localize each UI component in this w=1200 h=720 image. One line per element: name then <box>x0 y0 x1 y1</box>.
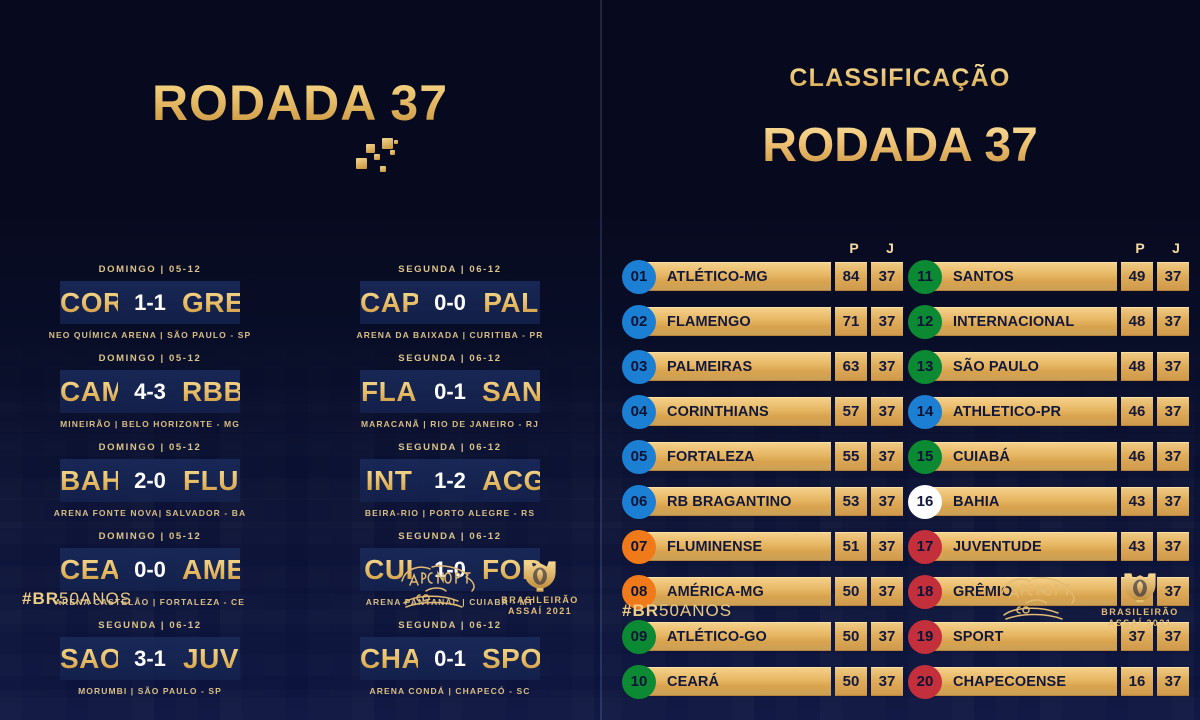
match-score-box: SAO3-1JUV <box>60 637 240 680</box>
standings-row[interactable]: 05FORTALEZA5537 <box>622 438 912 475</box>
match-score-box: COR1-1GRE <box>60 281 240 324</box>
column-header-games: J <box>1158 240 1194 256</box>
decorative-squares-icon <box>354 136 402 182</box>
team-name: INTERNACIONAL <box>929 307 1117 336</box>
standings-row[interactable]: 06RB BRAGANTINO5337 <box>622 483 912 520</box>
match-score-box: FLA0-1SAN <box>360 370 540 413</box>
logo-line-1: BRASILEIRÃO <box>1101 607 1178 618</box>
fixtures-grid: DOMINGO | 05-12COR1-1GRENEO QUÍMICA AREN… <box>0 264 600 709</box>
match-card[interactable]: SEGUNDA | 06-12CAP0-0PALARENA DA BAIXADA… <box>300 264 600 353</box>
team-points: 53 <box>835 487 867 516</box>
away-team-abbr: SPO <box>482 643 540 675</box>
hashtag-bold: #BR <box>22 589 59 608</box>
brasileirao-assai-logo: BRASILEIRÃO ASSAÍ 2021 <box>494 555 586 617</box>
match-date: SEGUNDA | 06-12 <box>398 353 501 364</box>
match-venue: ARENA DA BAIXADA | CURITIBA - PR <box>357 330 544 340</box>
team-name: CUIABÁ <box>929 442 1117 471</box>
trophy-icon <box>1114 571 1166 607</box>
position-badge: 20 <box>908 665 942 699</box>
standings-header-row: PJ <box>622 234 912 256</box>
standings-row[interactable]: 16BAHIA4337 <box>908 483 1198 520</box>
match-venue: NEO QUÍMICA ARENA | SÃO PAULO - SP <box>49 330 252 340</box>
match-result: 1-1 <box>128 290 172 316</box>
standings-row[interactable]: 13SÃO PAULO4837 <box>908 348 1198 385</box>
match-card[interactable]: DOMINGO | 05-12BAH2-0FLUARENA FONTE NOVA… <box>0 442 300 531</box>
match-date: SEGUNDA | 06-12 <box>398 264 501 275</box>
team-games: 37 <box>871 487 903 516</box>
position-badge: 06 <box>622 485 656 519</box>
position-badge: 05 <box>622 440 656 474</box>
match-result: 0-1 <box>428 379 472 405</box>
home-team-abbr: COR <box>60 287 118 319</box>
away-team-abbr: GRE <box>182 287 240 319</box>
away-team-abbr: ACG <box>482 465 540 497</box>
right-panel-standings: CLASSIFICAÇÃO RODADA 37 PJ01ATLÉTICO-MG8… <box>600 0 1200 720</box>
team-name: ATLÉTICO-MG <box>643 262 831 291</box>
standings-row[interactable]: 20CHAPECOENSE1637 <box>908 663 1198 700</box>
position-badge: 03 <box>622 350 656 384</box>
position-badge: 04 <box>622 395 656 429</box>
team-points: 63 <box>835 352 867 381</box>
standings-row[interactable]: 03PALMEIRAS6337 <box>622 348 912 385</box>
left-title-wrap: RODADA 37 <box>0 78 600 128</box>
match-result: 0-1 <box>428 646 472 672</box>
team-name: BAHIA <box>929 487 1117 516</box>
left-panel-fixtures: RODADA 37 DOMINGO | 05-12COR1-1GRENEO QU… <box>0 0 600 720</box>
match-result: 2-0 <box>128 468 172 494</box>
home-team-abbr: BAH <box>60 465 118 497</box>
logo-line-2: ASSAÍ 2021 <box>1108 618 1172 629</box>
position-badge: 13 <box>908 350 942 384</box>
team-games: 37 <box>1157 487 1189 516</box>
team-games: 37 <box>1157 352 1189 381</box>
match-result: 4-3 <box>128 379 172 405</box>
team-name: FLAMENGO <box>643 307 831 336</box>
page-title: RODADA 37 <box>152 78 448 128</box>
away-team-abbr: JUV <box>182 643 240 675</box>
column-header-points: P <box>836 240 872 256</box>
team-points: 49 <box>1121 262 1153 291</box>
match-score-box: CAP0-0PAL <box>360 281 540 324</box>
match-venue: ARENA FONTE NOVA| SALVADOR - BA <box>54 508 246 518</box>
brasileirao-assai-logo: BRASILEIRÃO ASSAÍ 2021 <box>1094 567 1186 629</box>
right-footer: #BR50ANOS <box>600 553 1200 649</box>
position-badge: 02 <box>622 305 656 339</box>
team-name: PALMEIRAS <box>643 352 831 381</box>
match-score-box: CHA0-1SPO <box>360 637 540 680</box>
standings-row[interactable]: 01ATLÉTICO-MG8437 <box>622 258 912 295</box>
home-team-abbr: CAP <box>360 287 418 319</box>
match-date: DOMINGO | 05-12 <box>99 442 202 453</box>
team-name: CEARÁ <box>643 667 831 696</box>
standings-row[interactable]: 04CORINTHIANS5737 <box>622 393 912 430</box>
match-result: 1-2 <box>428 468 472 494</box>
team-games: 37 <box>871 307 903 336</box>
match-score-box: CAM4-3RBB <box>60 370 240 413</box>
team-games: 37 <box>871 352 903 381</box>
team-points: 55 <box>835 442 867 471</box>
home-team-abbr: CHA <box>360 643 418 675</box>
match-date: SEGUNDA | 06-12 <box>398 442 501 453</box>
away-team-abbr: SAN <box>482 376 540 408</box>
home-team-abbr: FLA <box>360 376 418 408</box>
hashtag-bold: #BR <box>622 601 659 620</box>
match-card[interactable]: SEGUNDA | 06-12INT1-2ACGBEIRA-RIO | PORT… <box>300 442 600 531</box>
away-team-abbr: FLU <box>182 465 240 497</box>
trophy-icon <box>514 559 566 595</box>
team-name: FORTALEZA <box>643 442 831 471</box>
brasileirao-round-summary: RODADA 37 DOMINGO | 05-12COR1-1GRENEO QU… <box>0 0 1200 720</box>
match-venue: MARACANÃ | RIO DE JANEIRO - RJ <box>361 419 539 429</box>
position-badge: 11 <box>908 260 942 294</box>
away-team-abbr: PAL <box>482 287 540 319</box>
team-points: 84 <box>835 262 867 291</box>
team-points: 46 <box>1121 442 1153 471</box>
team-games: 37 <box>871 442 903 471</box>
standings-row[interactable]: 12INTERNACIONAL4837 <box>908 303 1198 340</box>
position-badge: 12 <box>908 305 942 339</box>
away-team-abbr: RBB <box>182 376 240 408</box>
team-games: 37 <box>871 262 903 291</box>
team-games: 37 <box>1157 397 1189 426</box>
team-games: 37 <box>871 397 903 426</box>
logo-line-2: ASSAÍ 2021 <box>508 606 572 617</box>
match-venue: MORUMBI | SÃO PAULO - SP <box>78 686 222 696</box>
team-name: ATHLETICO-PR <box>929 397 1117 426</box>
team-points: 43 <box>1121 487 1153 516</box>
team-name: RB BRAGANTINO <box>643 487 831 516</box>
match-date: DOMINGO | 05-12 <box>99 264 202 275</box>
match-result: 3-1 <box>128 646 172 672</box>
team-points: 16 <box>1121 667 1153 696</box>
team-points: 71 <box>835 307 867 336</box>
position-badge: 15 <box>908 440 942 474</box>
team-name: SANTOS <box>929 262 1117 291</box>
hashtag-br50anos: #BR50ANOS <box>622 601 732 621</box>
position-badge: 16 <box>908 485 942 519</box>
standings-row[interactable]: 10CEARÁ5037 <box>622 663 912 700</box>
position-badge: 01 <box>622 260 656 294</box>
standings-row[interactable]: 15CUIABÁ4637 <box>908 438 1198 475</box>
match-score-box: BAH2-0FLU <box>60 459 240 502</box>
column-header-points: P <box>1122 240 1158 256</box>
campeonato-brasileiro-logo <box>396 561 482 613</box>
panel-divider <box>600 0 602 720</box>
team-games: 37 <box>1157 442 1189 471</box>
standings-subtitle: CLASSIFICAÇÃO <box>600 64 1200 93</box>
match-venue: BEIRA-RIO | PORTO ALEGRE - RS <box>365 508 535 518</box>
left-footer: #BR50ANOS <box>0 541 600 637</box>
home-team-abbr: INT <box>360 465 418 497</box>
match-result: 0-0 <box>428 290 472 316</box>
standings-header-row: PJ <box>908 234 1198 256</box>
team-name: CHAPECOENSE <box>929 667 1117 696</box>
home-team-abbr: SAO <box>60 643 118 675</box>
team-points: 48 <box>1121 307 1153 336</box>
team-games: 37 <box>1157 667 1189 696</box>
standings-row[interactable]: 02FLAMENGO7137 <box>622 303 912 340</box>
standings-row[interactable]: 11SANTOS4937 <box>908 258 1198 295</box>
team-name: CORINTHIANS <box>643 397 831 426</box>
match-card[interactable]: DOMINGO | 05-12COR1-1GRENEO QUÍMICA AREN… <box>0 264 300 353</box>
logo-line-1: BRASILEIRÃO <box>501 595 578 606</box>
home-team-abbr: CAM <box>60 376 118 408</box>
position-badge: 14 <box>908 395 942 429</box>
hashtag-br50anos: #BR50ANOS <box>22 589 132 609</box>
match-score-box: INT1-2ACG <box>360 459 540 502</box>
hashtag-rest: 50ANOS <box>59 589 132 608</box>
standings-row[interactable]: 14ATHLETICO-PR4637 <box>908 393 1198 430</box>
match-venue: MINEIRÃO | BELO HORIZONTE - MG <box>60 419 240 429</box>
standings-title: RODADA 37 <box>600 121 1200 171</box>
hashtag-rest: 50ANOS <box>659 601 732 620</box>
column-header-games: J <box>872 240 908 256</box>
match-card[interactable]: DOMINGO | 05-12CAM4-3RBBMINEIRÃO | BELO … <box>0 353 300 442</box>
team-games: 37 <box>1157 307 1189 336</box>
campeonato-brasileiro-logo <box>996 573 1082 625</box>
team-games: 37 <box>871 667 903 696</box>
match-date: DOMINGO | 05-12 <box>99 353 202 364</box>
match-card[interactable]: SEGUNDA | 06-12FLA0-1SANMARACANÃ | RIO D… <box>300 353 600 442</box>
team-name: SÃO PAULO <box>929 352 1117 381</box>
position-badge: 10 <box>622 665 656 699</box>
team-points: 50 <box>835 667 867 696</box>
match-venue: ARENA CONDÁ | CHAPECÓ - SC <box>369 686 530 696</box>
team-games: 37 <box>1157 262 1189 291</box>
team-points: 48 <box>1121 352 1153 381</box>
team-points: 46 <box>1121 397 1153 426</box>
team-points: 57 <box>835 397 867 426</box>
